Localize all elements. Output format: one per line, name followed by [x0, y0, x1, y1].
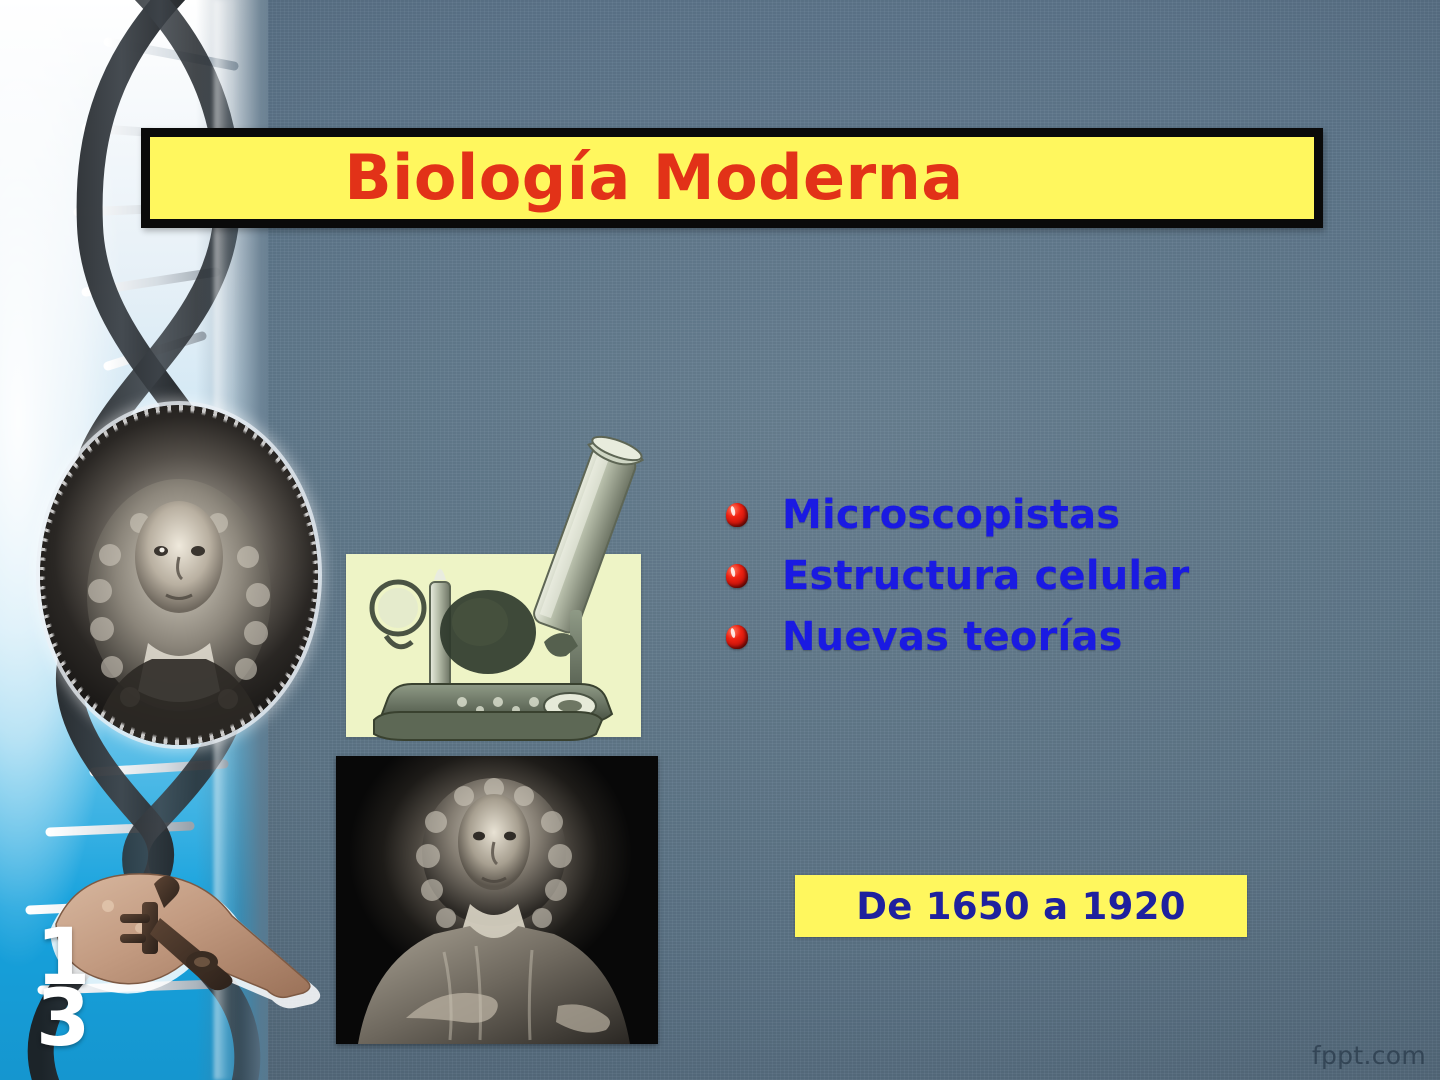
bullet-label: Estructura celular — [782, 556, 1189, 596]
oval-portrait-image — [40, 405, 318, 745]
bullet-label: Nuevas teorías — [782, 617, 1123, 657]
microscope-illustration-icon — [330, 430, 660, 750]
title-box: Biología Moderna — [141, 128, 1323, 228]
red-glossy-bullet-icon — [726, 503, 748, 527]
page-number: 1 3 — [36, 928, 122, 1050]
watermark: fppt.com — [1312, 1041, 1426, 1070]
bullet-list: Microscopistas Estructura celular Nuevas… — [726, 484, 1366, 667]
list-item[interactable]: Nuevas teorías — [726, 606, 1366, 667]
rect-portrait-image — [336, 756, 658, 1044]
red-glossy-bullet-icon — [726, 564, 748, 588]
rect-portrait-photo — [336, 756, 658, 1044]
date-range-box: De 1650 a 1920 — [795, 875, 1247, 937]
rect-portrait-figure — [336, 756, 658, 1044]
presentation-slide: 1 3 Biología Moderna — [0, 0, 1440, 1080]
page-title: Biología Moderna — [344, 147, 963, 209]
list-item[interactable]: Estructura celular — [726, 545, 1366, 606]
red-glossy-bullet-icon — [726, 625, 748, 649]
oval-portrait-frame-speckle — [40, 405, 318, 745]
page-number-digit-2: 3 — [36, 989, 122, 1050]
date-range-label: De 1650 a 1920 — [856, 888, 1186, 925]
bullet-label: Microscopistas — [782, 495, 1120, 535]
list-item[interactable]: Microscopistas — [726, 484, 1366, 545]
